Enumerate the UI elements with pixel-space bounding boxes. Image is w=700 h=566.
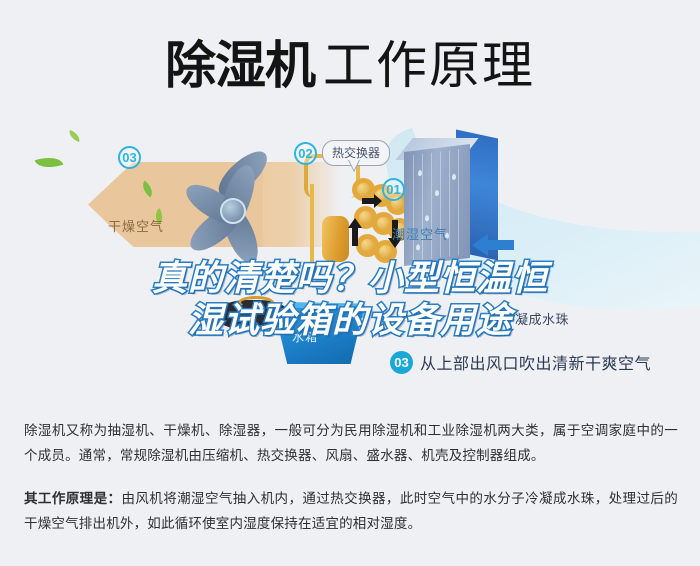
badge-02-heat-exchanger: 02 [294, 142, 317, 165]
leaf-icon [35, 152, 64, 172]
leaf-icon [67, 130, 82, 142]
page-title-part2: 工作原理 [323, 37, 535, 94]
page-root: 除湿机工作原理 [0, 0, 700, 566]
fan-illustration [178, 160, 302, 270]
label-dry-air: 干燥空气 [108, 216, 164, 235]
callout-step-03-text: 从上部出风口吹出清新干爽空气 [420, 350, 651, 374]
water-tank-label: 水箱 [292, 328, 318, 345]
heat-exchanger-fins [404, 144, 470, 266]
intake-arrow [472, 234, 488, 256]
paragraph-2-rest: 由风机将潮湿空气抽入机内，通过热交换器，此时空气中的水分子冷凝成水珠，处理过后的… [24, 491, 678, 531]
page-title-part1: 除湿机 [165, 37, 315, 94]
paragraph-1: 除湿机又称为抽湿机、干燥机、除湿器，一般可分为民用除湿机和工业除湿机两大类，属于… [24, 418, 678, 468]
badge-01-humid-air: 01 [382, 178, 405, 201]
callout-bubble-tail [348, 160, 360, 172]
label-humid-air: 潮湿空气 [392, 224, 448, 243]
drain-pan-rim [238, 296, 274, 309]
intake-arrow-tail [486, 240, 514, 250]
badge-03-dry-air: 03 [118, 146, 141, 169]
fan-hub [220, 198, 246, 224]
paragraph-2: 其工作原理是：由风机将潮湿空气抽入机内，通过热交换器，此时空气中的水分子冷凝成水… [24, 486, 678, 536]
header-banner: 除湿机工作原理 [0, 26, 700, 108]
callout-step-03: 03 从上部出风口吹出清新干爽空气 [390, 350, 651, 374]
dehumidifier-diagram: 水箱 03 干燥空气 02 热交换器 01 潮湿空气 器冷凝成水珠 03 从上部… [0, 112, 700, 402]
article-body: 除湿机又称为抽湿机、干燥机、除湿器，一般可分为民用除湿机和工业除湿机两大类，属于… [24, 418, 678, 536]
paragraph-2-lead: 其工作原理是： [24, 491, 121, 506]
badge-03-outlet: 03 [390, 351, 413, 374]
note-condense-to-droplets: 器冷凝成水珠 [488, 309, 569, 328]
page-title: 除湿机工作原理 [0, 26, 700, 106]
